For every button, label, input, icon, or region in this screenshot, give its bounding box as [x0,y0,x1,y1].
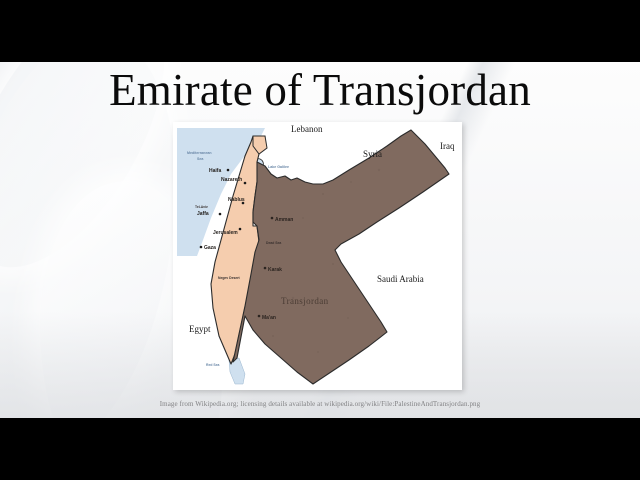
city-dot-amman [271,217,274,220]
city-dot-haifa [227,169,230,172]
city-dot-tel-aviv [219,213,222,216]
city-dot-karak [264,267,267,270]
city-dot-jerusalem [239,228,242,231]
map-label-jerusalem: Jerusalem [213,230,238,236]
map-label-iraq: Iraq [440,141,455,151]
map-label-amman: Amman [275,217,293,223]
map-label-transjordan: Transjordan [281,296,329,306]
map-label-mediterranean-sea-line2: Sea [197,157,204,161]
map-label-haifa: Haifa [209,168,221,174]
page-title: Emirate of Transjordan [0,62,640,120]
map-label-lebanon: Lebanon [291,124,323,134]
map-image-panel: Lebanon Syria Iraq Saudi Arabia Egypt Tr… [173,122,462,390]
letterbox-bar-bottom [0,418,640,480]
map-label-red-sea: Red Sea [206,363,219,367]
image-attribution-caption: Image from Wikipedia.org; licensing deta… [0,400,640,408]
map-label-tel-aviv: Tel-Aviv [195,205,208,209]
letterbox-bar-top [0,0,640,62]
city-dot-nazareth [244,182,247,185]
city-dot-gaza [200,246,203,249]
map-label-maan: Ma'an [262,315,276,321]
map-label-nablus: Nablus [228,197,245,203]
map-label-lake-galilee: Lake Galilee [268,165,289,169]
map-label-negev-desert: Negev Desert [218,276,241,280]
map-label-gaza: Gaza [204,245,216,251]
city-dot-maan [258,315,261,318]
map-label-jaffa: Jaffa [197,211,209,217]
map-label-karak: Karak [268,267,282,273]
map-label-dead-sea: Dead Sea [266,241,281,245]
map-label-saudi-arabia: Saudi Arabia [377,274,424,284]
map-label-mediterranean-sea-line1: Mediterranean [187,151,212,155]
map-label-syria: Syria [363,149,382,159]
map-graphic: Lebanon Syria Iraq Saudi Arabia Egypt Tr… [173,122,462,390]
map-label-nazareth: Nazareth [221,177,242,183]
presentation-slide: Emirate of Transjordan [0,62,640,418]
screenshot-stage: Emirate of Transjordan [0,0,640,480]
map-label-egypt: Egypt [189,324,211,334]
